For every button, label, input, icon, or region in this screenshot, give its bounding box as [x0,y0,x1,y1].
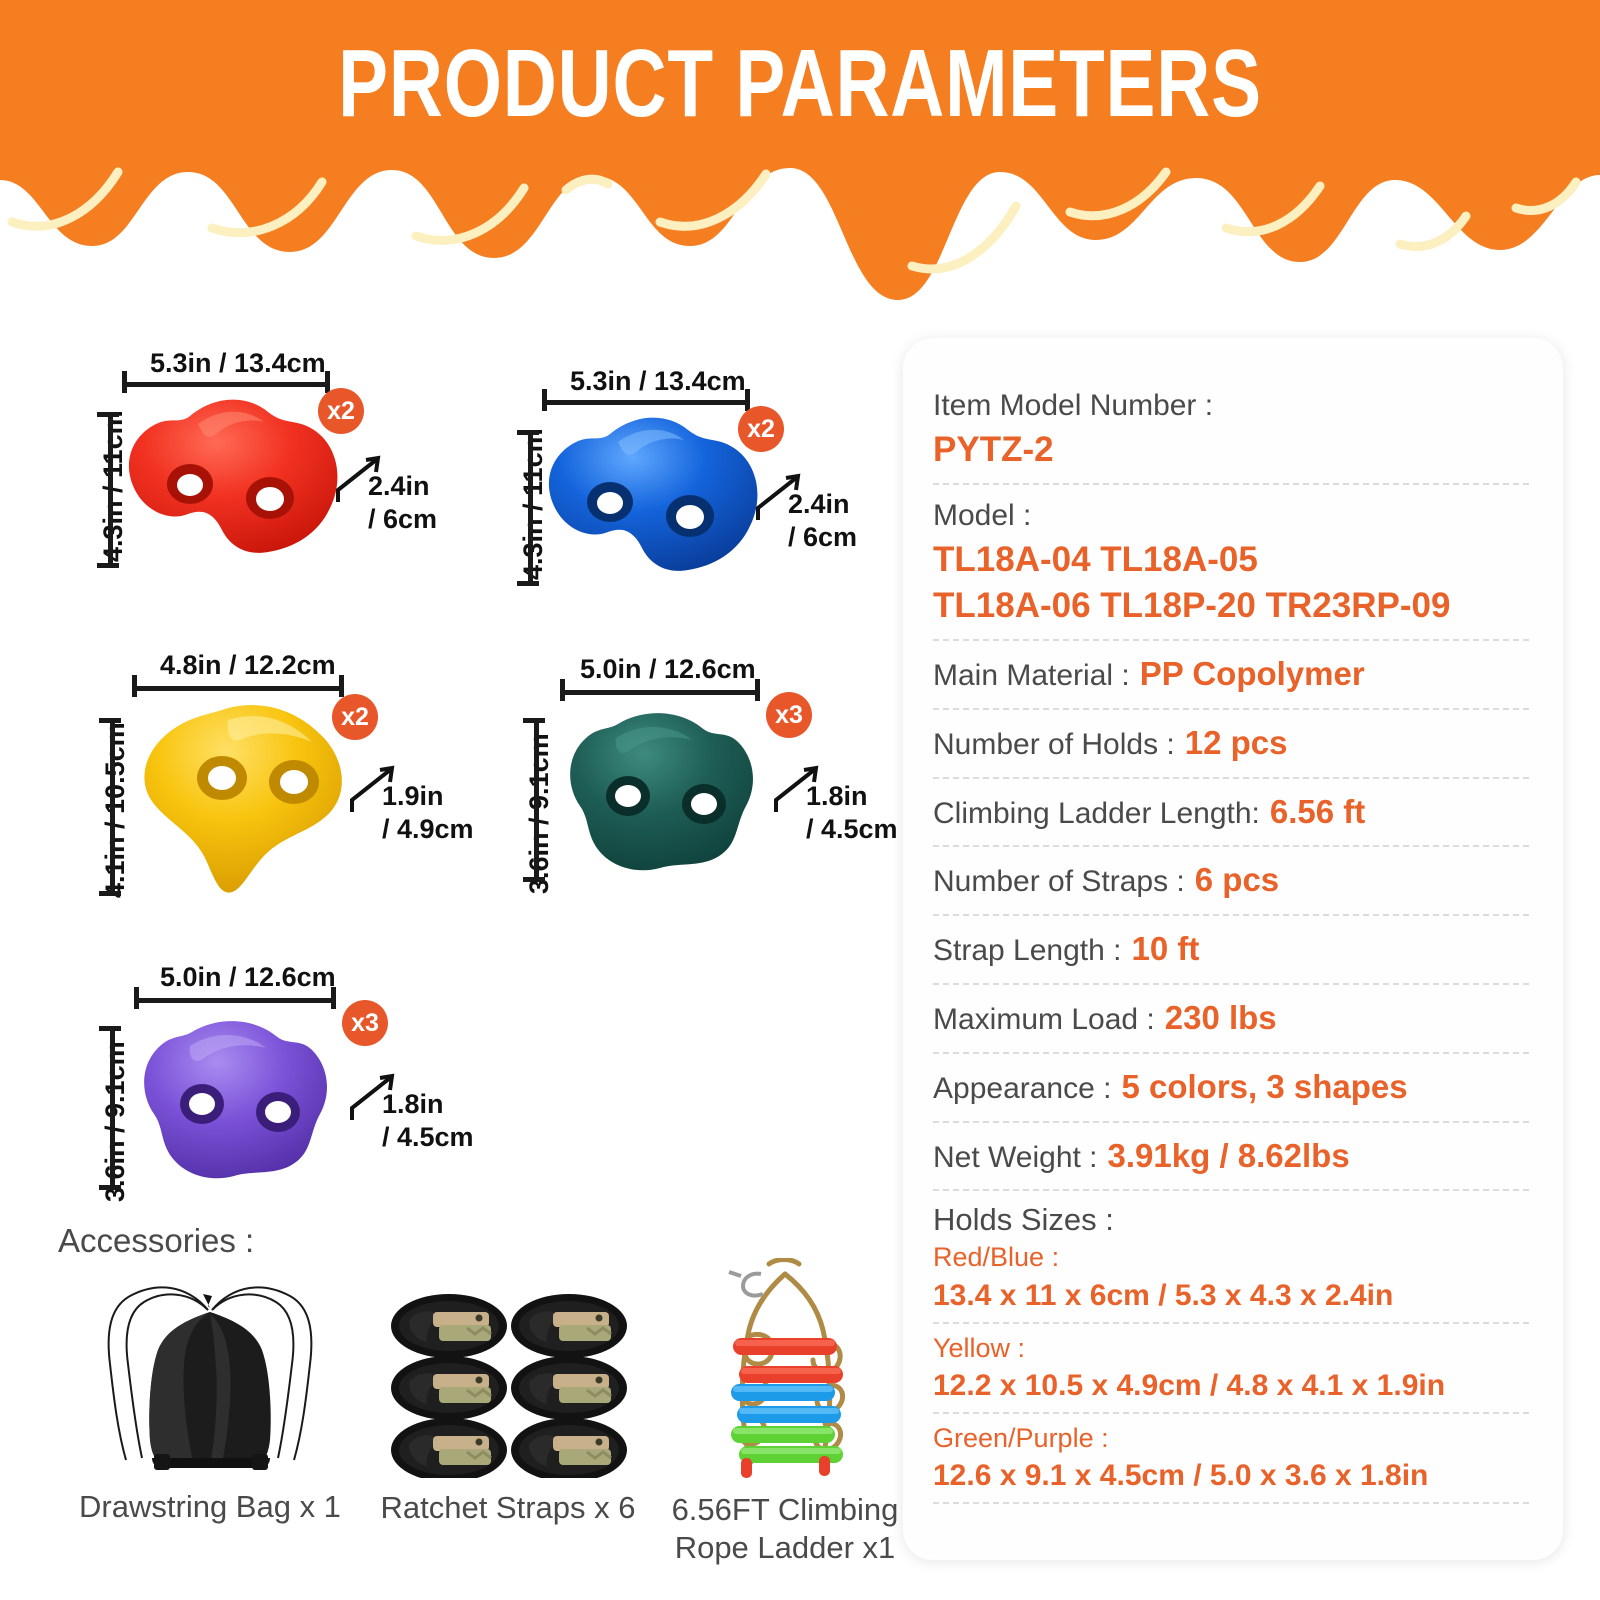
number-of-straps-label: Number of Straps : [933,862,1185,903]
spec-row-main-material: Main Material : PP Copolymer [933,652,1529,710]
blue-height-line [528,430,533,586]
purple-height-label: 3.6in / 9.1cm [100,1041,131,1202]
red-hold-illustration [118,388,350,573]
yellow-height-line [110,718,115,896]
drawstring-bag-caption: Drawstring Bag x 1 [60,1488,360,1526]
accessory-rope-ladder: 6.56FT Climbing Rope Ladder x1 [650,1258,920,1567]
spec-panel: Item Model Number : PYTZ-2 Model : TL18A… [903,338,1563,1560]
strap-length-label: Strap Length : [933,931,1121,972]
accessory-ratchet-straps: Ratchet Straps x 6 [368,1288,648,1527]
size-green-purple: Green/Purple : 12.6 x 9.1 x 4.5cm / 5.0 … [933,1421,1529,1504]
purple-depth-label: 1.8in / 4.5cm [382,1088,474,1154]
purple-height-cap-top [99,1026,121,1031]
green-height-line [534,718,539,882]
green-depth-label: 1.8in / 4.5cm [806,780,898,846]
spec-row-maximum-load: Maximum Load : 230 lbs [933,996,1529,1054]
main-material-value: PP Copolymer [1140,652,1365,696]
yellow-depth-line1: 1.9in [382,780,474,813]
green-height-label: 3.6in / 9.1cm [524,733,555,894]
purple-width-cap-right [331,987,336,1009]
purple-height-line [110,1026,115,1190]
number-of-straps-value: 6 pcs [1195,858,1279,902]
purple-depth-line1: 1.8in [382,1088,474,1121]
yellow-depth-line2: / 4.9cm [382,813,474,846]
appearance-label: Appearance : [933,1069,1111,1110]
yellow-depth-label: 1.9in / 4.9cm [382,780,474,846]
purple-qty-badge: x3 [342,1000,388,1046]
spec-row-strap-length: Strap Length : 10 ft [933,927,1529,985]
accessory-drawstring-bag: Drawstring Bag x 1 [60,1272,360,1526]
blue-width-label: 5.3in / 13.4cm [570,366,746,397]
rope-ladder-caption-line2: Rope Ladder x1 [650,1529,920,1567]
spec-row-model: Model : TL18A-04 TL18A-05 TL18A-06 TL18P… [933,496,1529,641]
spec-row-item-model-number: Item Model Number : PYTZ-2 [933,386,1529,485]
blue-height-cap-top [517,430,539,435]
yellow-width-line [132,686,344,691]
size-red-blue: Red/Blue : 13.4 x 11 x 6cm / 5.3 x 4.3 x… [933,1240,1529,1323]
yellow-height-label: 4.1in / 10.5cm [100,722,131,898]
purple-height-cap-bottom [99,1185,121,1190]
number-of-holds-label: Number of Holds : [933,725,1175,766]
blue-depth-label: 2.4in / 6cm [788,488,857,554]
spec-row-ladder-length: Climbing Ladder Length: 6.56 ft [933,790,1529,848]
size-yellow-value: 12.2 x 10.5 x 4.9cm / 4.8 x 4.1 x 1.9in [933,1366,1529,1405]
strap-length-value: 10 ft [1131,927,1199,971]
holds-sizes-label: Holds Sizes : [933,1202,1529,1238]
red-width-label: 5.3in / 13.4cm [150,348,326,379]
item-model-number-label: Item Model Number : [933,386,1529,427]
ratchet-straps-caption-line1: Ratchet Straps x 6 [368,1489,648,1527]
green-width-line [560,690,760,695]
model-value-line1: TL18A-04 TL18A-05 [933,537,1529,583]
ladder-length-value: 6.56 ft [1270,790,1365,834]
ladder-length-label: Climbing Ladder Length: [933,794,1260,835]
rope-ladder-caption-line1: 6.56FT Climbing [650,1491,920,1529]
green-width-cap-left [560,679,565,701]
page-title: PRODUCT PARAMETERS [176,34,1424,135]
yellow-width-label: 4.8in / 12.2cm [160,650,336,681]
main-material-label: Main Material : [933,656,1130,697]
ratchet-straps-icon [383,1288,633,1478]
red-depth-label: 2.4in / 6cm [368,470,437,536]
green-qty-badge: x3 [766,692,812,738]
green-width-cap-right [755,679,760,701]
spec-row-holds-sizes: Holds Sizes : Red/Blue : 13.4 x 11 x 6cm… [933,1202,1529,1503]
net-weight-label: Net Weight : [933,1138,1098,1179]
net-weight-value: 3.91kg / 8.62lbs [1108,1134,1350,1178]
header-banner: PRODUCT PARAMETERS [0,0,1600,300]
blue-height-cap-bottom [517,581,539,586]
purple-width-cap-left [134,987,139,1009]
blue-qty-badge: x2 [738,406,784,452]
yellow-qty-badge: x2 [332,694,378,740]
item-model-number-value: PYTZ-2 [933,427,1529,473]
blue-depth-line1: 2.4in [788,488,857,521]
spec-row-number-of-straps: Number of Straps : 6 pcs [933,858,1529,916]
number-of-holds-value: 12 pcs [1185,721,1288,765]
blue-width-line [542,400,750,405]
green-hold-illustration [556,700,768,882]
purple-width-line [134,998,336,1003]
size-yellow: Yellow : 12.2 x 10.5 x 4.9cm / 4.8 x 4.1… [933,1331,1529,1414]
appearance-value: 5 colors, 3 shapes [1121,1065,1407,1109]
purple-hold-illustration [130,1008,342,1190]
size-yellow-label: Yellow : [933,1331,1529,1366]
red-width-line [122,382,330,387]
size-green-purple-value: 12.6 x 9.1 x 4.5cm / 5.0 x 3.6 x 1.8in [933,1456,1529,1495]
yellow-height-cap-top [99,718,121,723]
accessories-title: Accessories : [58,1222,254,1260]
red-height-line [108,412,113,568]
green-depth-line1: 1.8in [806,780,898,813]
green-depth-line2: / 4.5cm [806,813,898,846]
ratchet-straps-caption: Ratchet Straps x 6 [368,1489,648,1527]
size-red-blue-value: 13.4 x 11 x 6cm / 5.3 x 4.3 x 2.4in [933,1276,1529,1315]
model-label: Model : [933,496,1529,537]
yellow-height-cap-bottom [99,891,121,896]
maximum-load-value: 230 lbs [1165,996,1277,1040]
drawstring-bag-caption-line1: Drawstring Bag x 1 [60,1488,360,1526]
spec-row-net-weight: Net Weight : 3.91kg / 8.62lbs [933,1134,1529,1192]
blue-hold-illustration [538,406,770,591]
red-depth-line1: 2.4in [368,470,437,503]
red-height-cap-top [97,412,119,417]
drawstring-bag-icon [90,1272,330,1477]
green-height-cap-top [523,718,545,723]
spec-row-number-of-holds: Number of Holds : 12 pcs [933,721,1529,779]
rope-ladder-icon [685,1258,885,1480]
blue-depth-line2: / 6cm [788,521,857,554]
red-qty-badge: x2 [318,388,364,434]
green-height-cap-bottom [523,877,545,882]
red-depth-line2: / 6cm [368,503,437,536]
maximum-load-label: Maximum Load : [933,1000,1155,1041]
purple-depth-line2: / 4.5cm [382,1121,474,1154]
spec-row-appearance: Appearance : 5 colors, 3 shapes [933,1065,1529,1123]
model-value-line2: TL18A-06 TL18P-20 TR23RP-09 [933,583,1529,629]
green-width-label: 5.0in / 12.6cm [580,654,756,685]
size-green-purple-label: Green/Purple : [933,1421,1529,1456]
purple-width-label: 5.0in / 12.6cm [160,962,336,993]
size-red-blue-label: Red/Blue : [933,1240,1529,1275]
red-height-cap-bottom [97,563,119,568]
yellow-hold-illustration [128,694,358,899]
rope-ladder-caption: 6.56FT Climbing Rope Ladder x1 [650,1491,920,1567]
